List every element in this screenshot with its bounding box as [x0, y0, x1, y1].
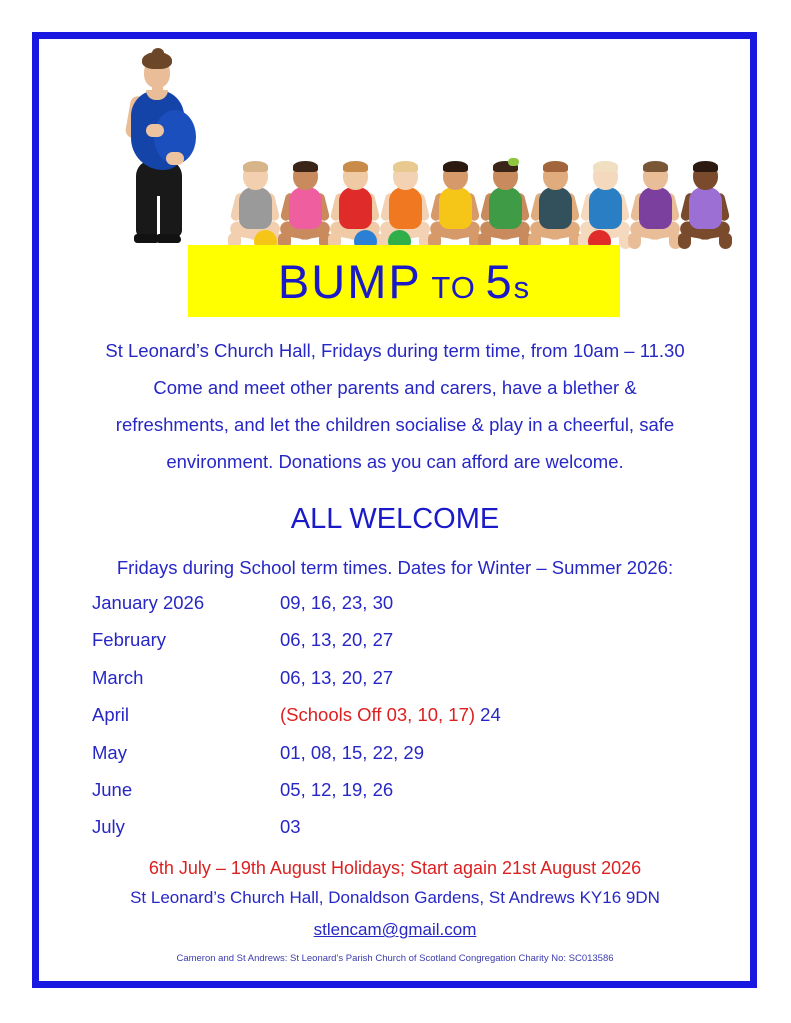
baby-onesie: [289, 187, 322, 229]
date-month-label: April: [92, 704, 129, 726]
baby-hair-bow: [508, 158, 519, 166]
baby-foot-left: [678, 233, 691, 249]
email-text: stlencam@gmail.com: [314, 920, 477, 939]
dates-intro-text: Fridays during School term times. Dates …: [60, 557, 730, 579]
intro-line-2: Come and meet other parents and carers, …: [60, 377, 730, 399]
date-month-label: January 2026: [92, 592, 204, 614]
pregnant-woman-photo: [104, 48, 214, 248]
date-month-label: May: [92, 742, 127, 764]
intro-line-4: environment. Donations as you can afford…: [60, 451, 730, 473]
baby-figure: [632, 163, 678, 267]
baby-figure: [682, 163, 728, 267]
title-word-to: TO: [422, 270, 486, 305]
venue-address: St Leonard’s Church Hall, Donaldson Gard…: [60, 888, 730, 908]
baby-foot-right: [719, 233, 732, 249]
baby-onesie: [639, 187, 672, 229]
poster-title: BUMP TO 5s: [278, 258, 530, 305]
date-row: July03: [92, 816, 692, 853]
baby-hair: [443, 161, 468, 172]
date-days-value: 06, 13, 20, 27: [280, 629, 393, 651]
holiday-notice: 6th July – 19th August Holidays; Start a…: [60, 858, 730, 879]
baby-hair: [643, 161, 668, 172]
date-month-label: February: [92, 629, 166, 651]
baby-onesie: [389, 187, 422, 229]
woman-hair-bun: [152, 48, 164, 58]
date-days-value: 01, 08, 15, 22, 29: [280, 742, 424, 764]
date-row: May01, 08, 15, 22, 29: [92, 742, 692, 779]
baby-hair: [343, 161, 368, 172]
title-word-bump: BUMP: [278, 255, 422, 308]
woman-hand-right: [166, 152, 184, 165]
title-banner: BUMP TO 5s: [188, 245, 620, 317]
baby-onesie: [339, 187, 372, 229]
date-row: January 202609, 16, 23, 30: [92, 592, 692, 629]
dates-table: January 202609, 16, 23, 30February06, 13…: [92, 592, 692, 854]
date-days-value: 03: [280, 816, 301, 838]
date-row: April(Schools Off 03, 10, 17) 24: [92, 704, 692, 741]
baby-hair: [243, 161, 268, 172]
date-row: February06, 13, 20, 27: [92, 629, 692, 666]
woman-hand-left: [146, 124, 164, 137]
date-days-value: 06, 13, 20, 27: [280, 667, 393, 689]
woman-shoe-right: [156, 234, 181, 243]
baby-hair: [543, 161, 568, 172]
date-days-value: (Schools Off 03, 10, 17) 24: [280, 704, 501, 726]
charity-registration-text: Cameron and St Andrews: St Leonard’s Par…: [60, 953, 730, 964]
header-artwork: [32, 40, 757, 240]
baby-hair: [293, 161, 318, 172]
baby-onesie: [439, 187, 472, 229]
baby-onesie: [239, 187, 272, 229]
baby-onesie: [589, 187, 622, 229]
poster-page: BUMP TO 5s St Leonard’s Church Hall, Fri…: [0, 0, 791, 1023]
intro-line-1: St Leonard’s Church Hall, Fridays during…: [60, 340, 730, 362]
intro-line-3: refreshments, and let the children socia…: [60, 414, 730, 436]
baby-onesie: [539, 187, 572, 229]
woman-leg-gap: [157, 196, 160, 238]
contact-email-link[interactable]: stlencam@gmail.com: [60, 920, 730, 940]
date-row: March06, 13, 20, 27: [92, 667, 692, 704]
baby-onesie: [689, 187, 722, 229]
baby-onesie: [489, 187, 522, 229]
baby-hair: [593, 161, 618, 172]
baby-foot-left: [628, 233, 641, 249]
baby-hair: [693, 161, 718, 172]
date-days-value: 09, 16, 23, 30: [280, 592, 393, 614]
date-month-label: July: [92, 816, 125, 838]
all-welcome-heading: ALL WELCOME: [60, 503, 730, 536]
title-letter-s: s: [514, 270, 531, 305]
baby-hair: [393, 161, 418, 172]
date-row: June05, 12, 19, 26: [92, 779, 692, 816]
title-number-five: 5: [485, 255, 513, 308]
date-month-label: March: [92, 667, 143, 689]
date-month-label: June: [92, 779, 132, 801]
schools-off-note: (Schools Off 03, 10, 17): [280, 704, 475, 725]
date-days-value: 05, 12, 19, 26: [280, 779, 393, 801]
